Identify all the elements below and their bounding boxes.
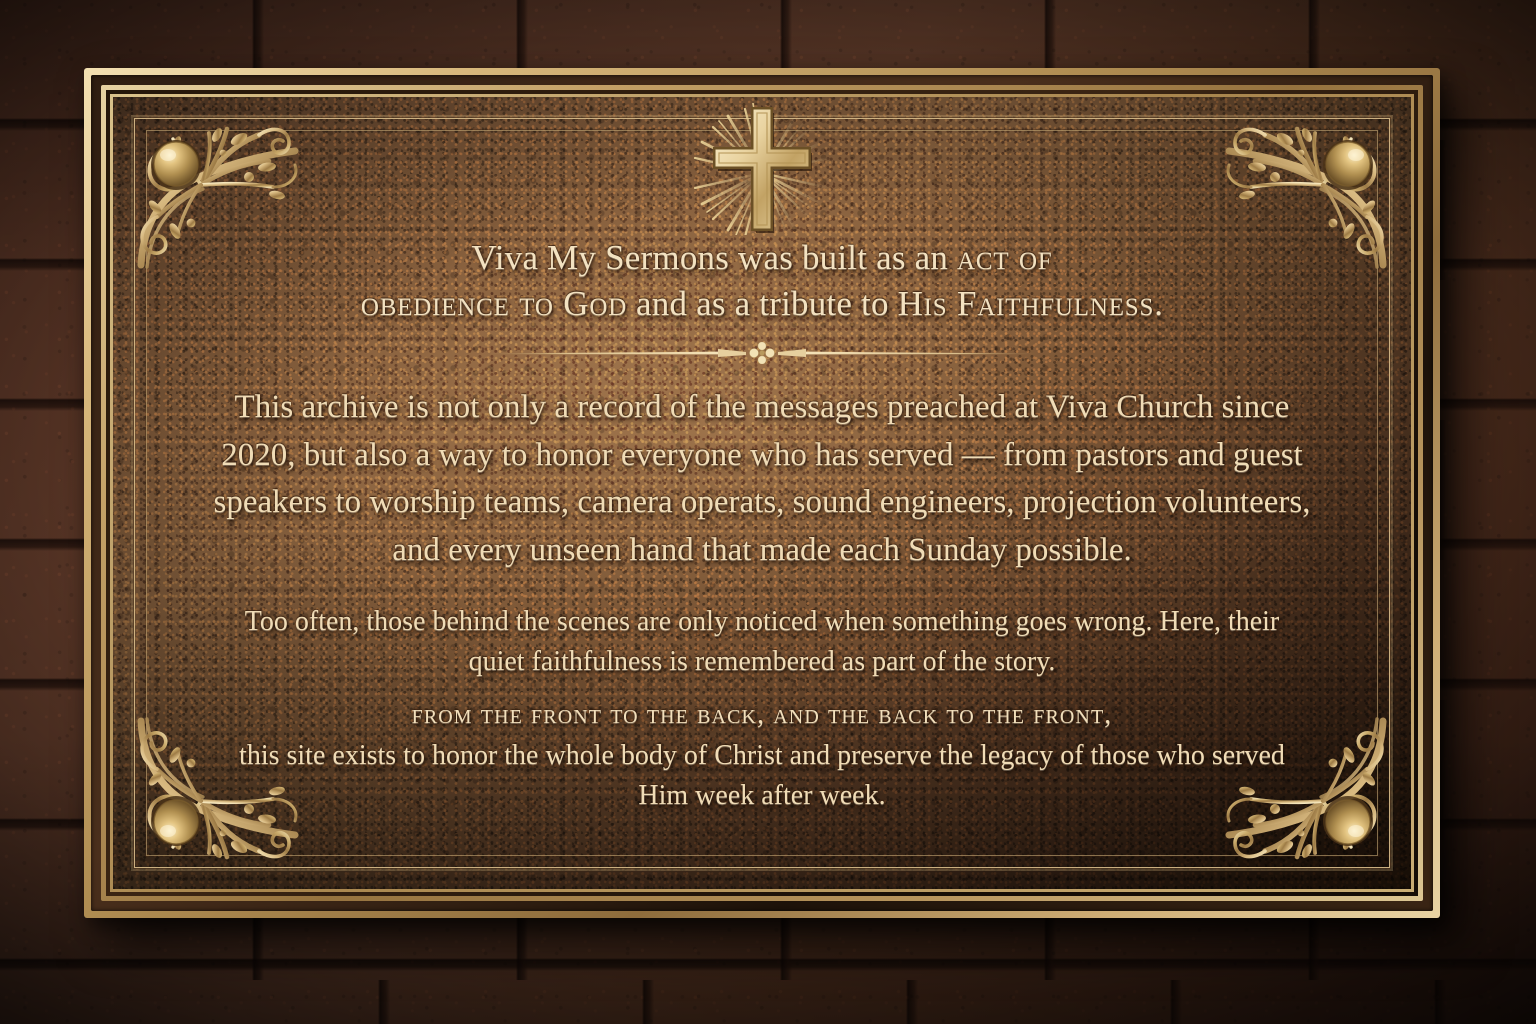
headline-text-b: and as a tribute to xyxy=(627,284,898,323)
plaque-bronze-face: Viva My Sermons was built as an act of o… xyxy=(113,97,1411,889)
headline-smallcaps-obedience: obedience to God xyxy=(361,284,627,323)
headline-text-a: was built as an xyxy=(729,238,957,277)
frame-inner-gold-rim: Viva My Sermons was built as an act of o… xyxy=(110,94,1414,892)
bronze-memorial-plaque: Viva My Sermons was built as an act of o… xyxy=(84,68,1440,918)
paragraph-behind-the-scenes: Too often, those behind the scenes are o… xyxy=(171,602,1353,683)
plaque-headline: Viva My Sermons was built as an act of o… xyxy=(171,235,1353,326)
frame-inner-recess: Viva My Sermons was built as an act of o… xyxy=(106,90,1418,896)
headline-smallcaps-his-faithfulness: His Faithfulness xyxy=(898,284,1155,323)
headline-period: . xyxy=(1154,284,1163,323)
frame-outer-recess: Viva My Sermons was built as an act of o… xyxy=(91,75,1433,911)
frame-gold-bevel-ring: Viva My Sermons was built as an act of o… xyxy=(101,85,1423,901)
headline-smallcaps-act-of: act of xyxy=(957,238,1053,277)
paragraph-archive-description: This archive is not only a record of the… xyxy=(171,384,1353,574)
plaque-text-content: Viva My Sermons was built as an act of o… xyxy=(171,235,1353,816)
quatrefoil-divider-ornament xyxy=(482,342,1042,364)
headline-brand: Viva My Sermons xyxy=(471,238,729,277)
paragraph-closing-legacy: this site exists to honor the whole body… xyxy=(171,736,1353,816)
paragraph-emphasis-front-to-back: From the front to the back, and the back… xyxy=(171,695,1353,735)
